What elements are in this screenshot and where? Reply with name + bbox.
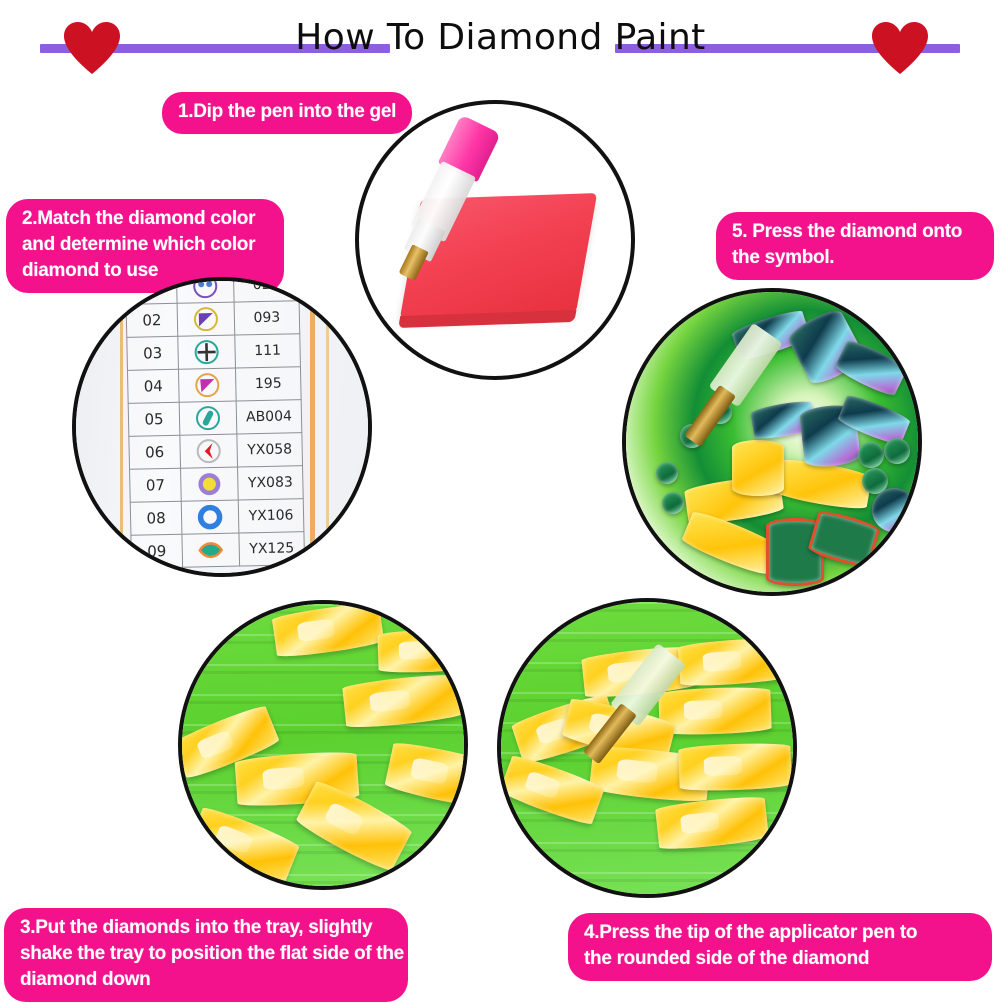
step-2-photo: 02002093031110419505AB00406YX05807YX0830… (76, 281, 368, 573)
chart-cell-symbol (177, 302, 235, 336)
diamond-gem (732, 440, 784, 496)
color-symbol-chart: 02002093031110419505AB00406YX05807YX0830… (125, 277, 305, 569)
chart-cell-number: 03 (127, 336, 179, 370)
triangle-magenta-circle-orange-icon (194, 372, 221, 399)
chart-cell-code: YX058 (237, 433, 303, 467)
table-row: 07YX083 (130, 466, 304, 503)
chart-cell-number: 07 (130, 468, 182, 502)
chart-cell-code: YX125 (239, 532, 305, 566)
chart-cell-symbol (182, 533, 240, 567)
step-3-line-1: 3.Put the diamonds into the tray, slight… (20, 915, 392, 941)
step-4-line-2: the rounded side of the diamond (584, 946, 976, 972)
table-row: 05AB004 (128, 400, 302, 437)
page-title: How To Diamond Paint (0, 16, 1001, 60)
chart-cell-number: 09 (131, 534, 183, 568)
diamond-gem (858, 442, 884, 468)
canvas-edge-left (120, 281, 123, 573)
step-3-label: 3.Put the diamonds into the tray, slight… (4, 908, 408, 1002)
table-row: 09YX125 (131, 532, 305, 569)
infographic-canvas: How To Diamond Paint 1.Dip the pen into … (0, 0, 1001, 1001)
step-2-line-2: and determine which color (22, 232, 268, 258)
chart-cell-number: 02 (126, 303, 178, 337)
double-dot-circle-purple-icon (192, 277, 219, 299)
step-1-photo (359, 104, 631, 376)
diamond-drill (678, 742, 792, 792)
leaf-teal-outline-orange-icon (197, 537, 224, 564)
step-1-photo-circle (355, 100, 635, 380)
step-2-line-1: 2.Match the diamond color (22, 206, 268, 232)
chart-cell-symbol (181, 500, 239, 534)
header: How To Diamond Paint (0, 0, 1001, 80)
step-5-photo-circle (622, 288, 922, 596)
triangle-purple-circle-yellow-icon (193, 306, 220, 333)
step-4-label: 4.Press the tip of the applicator pen to… (568, 913, 992, 981)
chart-cell-number: 04 (127, 369, 179, 403)
ring-blue-icon (197, 504, 224, 531)
diamond-drill (658, 686, 772, 736)
chart-cell-code: YX083 (238, 466, 304, 500)
diamond-gem (872, 488, 916, 532)
chart-cell-number (125, 277, 177, 304)
step-3-line-2: shake the tray to position the flat side… (20, 941, 392, 967)
chart-cell-code: 111 (235, 334, 301, 368)
table-row: 08YX106 (130, 499, 304, 536)
arrow-left-red-circle-grey-icon (195, 438, 222, 465)
table-row: 06YX058 (129, 433, 303, 470)
canvas-edge-right (310, 281, 315, 573)
slash-bar-circle-teal-icon (195, 405, 222, 432)
chart-cell-code: 195 (235, 367, 301, 401)
diamond-drill (377, 628, 468, 673)
chart-cell-symbol (180, 434, 238, 468)
step-4-line-1: 4.Press the tip of the applicator pen to (584, 920, 976, 946)
step-5-photo (626, 292, 918, 592)
step-5-line-2: the symbol. (732, 245, 978, 271)
step-3-photo-circle (178, 600, 468, 890)
step-2-photo-circle: 02002093031110419505AB00406YX05807YX0830… (72, 277, 372, 577)
step-4-photo (501, 602, 793, 894)
diamond-drill (678, 636, 791, 688)
chart-cell-symbol (178, 335, 236, 369)
step-3-line-3: diamond down (20, 967, 392, 993)
chart-cell-symbol (179, 401, 237, 435)
table-row: 02093 (126, 301, 300, 338)
step-4-photo-circle (497, 598, 797, 898)
table-row: 020 (125, 277, 299, 304)
step-3-photo (182, 604, 464, 886)
filled-dot-yellow-circle-purple-icon (196, 471, 223, 498)
chart-cell-code: 093 (234, 301, 300, 335)
diamond-gem (656, 462, 678, 484)
chart-cell-symbol (181, 467, 239, 501)
chart-cell-code: 020 (233, 277, 299, 302)
diamond-gem (662, 492, 684, 514)
step-5-label: 5. Press the diamond onto the symbol. (716, 212, 994, 280)
chart-cell-number: 05 (128, 402, 180, 436)
chart-cell-number: 08 (130, 501, 182, 535)
chart-cell-code: AB004 (236, 400, 302, 434)
step-5-line-1: 5. Press the diamond onto (732, 219, 978, 245)
chart-cell-symbol (178, 368, 236, 402)
canvas-edge-right-2 (326, 281, 329, 573)
plus-cross-circle-teal-icon (193, 339, 220, 366)
chart-cell-code: YX106 (238, 499, 304, 533)
diamond-gem (884, 438, 910, 464)
table-row: 04195 (127, 367, 301, 404)
chart-cell-symbol (176, 277, 234, 303)
table-row: 03111 (127, 334, 301, 371)
color-chart-body: 02002093031110419505AB00406YX05807YX0830… (125, 277, 304, 568)
chart-cell-number: 06 (129, 435, 181, 469)
